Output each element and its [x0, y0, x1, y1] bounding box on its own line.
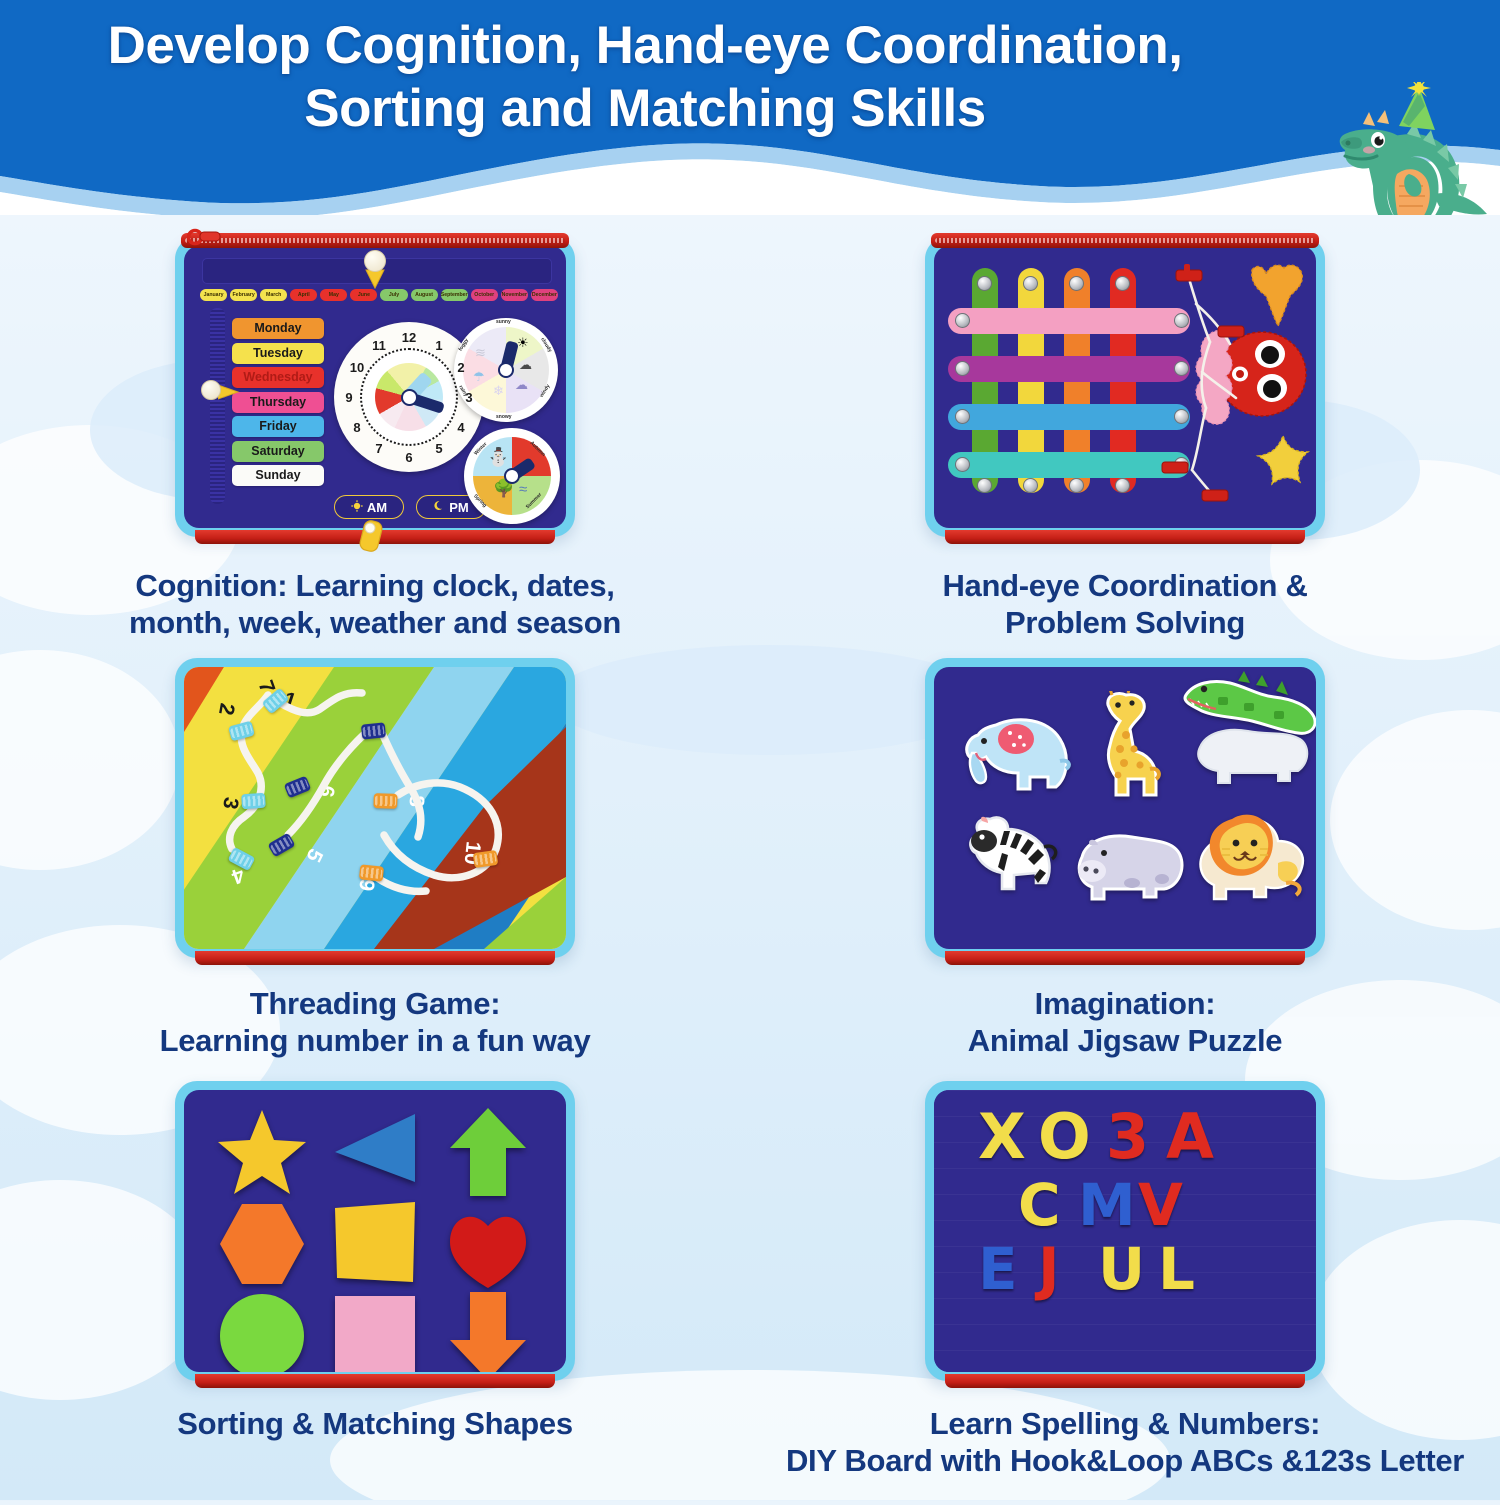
yellow-pointer-piece[interactable]	[357, 519, 385, 559]
month-slider-knob[interactable]	[364, 250, 386, 272]
clock-number-1: 1	[428, 334, 450, 356]
letters-board[interactable]: XO3ACMVEJUL	[925, 1081, 1325, 1381]
clock-number-11: 11	[368, 334, 390, 356]
clock-number-7: 7	[368, 438, 390, 460]
feature-grid: JanuaryFebruaryMarchAprilMayJuneJulyAugu…	[0, 225, 1500, 1500]
page-title: Develop Cognition, Hand-eye Coordination…	[0, 14, 1290, 140]
windy-weather-icon: ☁	[515, 377, 528, 393]
panel-lacing: Hand-eye Coordination & Problem Solving	[750, 225, 1500, 650]
caption-threading: Threading Game: Learning number in a fun…	[0, 985, 750, 1059]
zebra-puzzle-piece[interactable]	[952, 815, 1064, 901]
pm-label: PM	[449, 500, 469, 515]
title-line-2: Sorting and Matching Skills	[0, 77, 1290, 140]
weekday-list: MondayTuesdayWednesdayThursdayFridaySatu…	[232, 318, 324, 486]
caption-letters-line1: Learn Spelling & Numbers:	[745, 1405, 1500, 1442]
weekday-wednesday[interactable]: Wednesday	[232, 367, 324, 388]
shape-triangle[interactable]	[319, 1106, 432, 1198]
shape-arrow-down[interactable]	[431, 1290, 544, 1372]
thread-clip-8[interactable]	[373, 793, 397, 809]
clock-number-6: 6	[398, 446, 420, 468]
cloud-weather-icon: ☁	[519, 357, 532, 373]
zipper-bottom	[195, 1374, 555, 1388]
snow-weather-icon: ❄	[493, 383, 504, 399]
panel-cognition: JanuaryFebruaryMarchAprilMayJuneJulyAugu…	[0, 225, 750, 650]
letter-tile-3[interactable]: 3	[1106, 1106, 1149, 1168]
month-tag-february[interactable]: February	[230, 289, 257, 301]
caption-animals-line1: Imagination:	[750, 985, 1500, 1022]
title-line-1: Develop Cognition, Hand-eye Coordination…	[108, 16, 1183, 75]
animal-puzzle-board[interactable]	[925, 658, 1325, 958]
letter-tile-V[interactable]: V	[1138, 1176, 1183, 1234]
moon-icon	[433, 500, 445, 515]
month-tag-july[interactable]: July	[380, 289, 407, 301]
shape-hexagon[interactable]	[206, 1198, 319, 1290]
shape-arrow-up[interactable]	[431, 1106, 544, 1198]
shapes-grid	[184, 1090, 566, 1372]
threading-board[interactable]: 12345678910	[175, 658, 575, 958]
header-banner: Develop Cognition, Hand-eye Coordination…	[0, 0, 1500, 215]
weather-wheel[interactable]: ☀ ☁ ☁ ❄ ☂ ≋ sunny cloudy windy snowy	[454, 318, 558, 422]
cognition-board[interactable]: JanuaryFebruaryMarchAprilMayJuneJulyAugu…	[175, 237, 575, 537]
letter-tile-L[interactable]: L	[1158, 1240, 1195, 1298]
clock-number-10: 10	[346, 356, 368, 378]
lacing-board[interactable]	[925, 237, 1325, 537]
month-tag-june[interactable]: June	[350, 289, 377, 301]
letter-tile-M[interactable]: M	[1078, 1176, 1136, 1234]
snowman-icon: ⛄	[487, 447, 509, 468]
hippo-puzzle-piece[interactable]	[1070, 829, 1186, 901]
lacing-cords	[934, 246, 1316, 528]
shape-star[interactable]	[206, 1106, 319, 1198]
letter-tile-C[interactable]: C	[1018, 1176, 1061, 1234]
weekday-slider-knob[interactable]	[201, 380, 221, 400]
caption-cognition-line1: Cognition: Learning clock, dates,	[0, 567, 750, 604]
clock-inner-dial	[360, 348, 458, 446]
zipper-bottom	[945, 530, 1305, 544]
lion-puzzle-piece[interactable]	[1186, 809, 1308, 905]
water-icon: ≈	[519, 481, 527, 498]
am-button[interactable]: AM	[334, 495, 404, 519]
month-tag-august[interactable]: August	[411, 289, 438, 301]
giraffe-puzzle-piece[interactable]	[1084, 691, 1166, 803]
letter-tile-U[interactable]: U	[1098, 1240, 1145, 1298]
elephant-puzzle-piece[interactable]	[956, 711, 1074, 797]
shape-square-pink[interactable]	[319, 1290, 432, 1372]
month-tag-may[interactable]: May	[320, 289, 347, 301]
month-tag-december[interactable]: December	[531, 289, 558, 301]
shape-square[interactable]	[319, 1198, 432, 1290]
season-wheel-hub	[504, 468, 520, 484]
cognition-felt: JanuaryFebruaryMarchAprilMayJuneJulyAugu…	[184, 246, 566, 528]
threading-felt: 12345678910	[184, 667, 566, 949]
letter-strips: XO3ACMVEJUL	[934, 1090, 1316, 1372]
weekday-saturday[interactable]: Saturday	[232, 441, 324, 462]
caption-lacing-line2: Problem Solving	[750, 604, 1500, 641]
shape-heart[interactable]	[431, 1198, 544, 1290]
ampm-toggle-group[interactable]: AM PM	[334, 495, 486, 519]
clock-number-4: 4	[450, 416, 472, 438]
caption-shapes-line1: Sorting & Matching Shapes	[0, 1405, 750, 1442]
thread-clip-9[interactable]	[359, 864, 384, 881]
clock-number-5: 5	[428, 438, 450, 460]
letter-tile-J[interactable]: J	[1038, 1240, 1060, 1298]
letter-tile-E[interactable]: E	[978, 1240, 1018, 1298]
dinosaur-mascot-icon	[1315, 82, 1490, 215]
shape-circle[interactable]	[206, 1290, 319, 1372]
clock-number-9: 9	[338, 386, 360, 408]
weekday-slider-arrow-icon	[218, 384, 240, 400]
clock-hub	[401, 389, 418, 406]
caption-lacing-line1: Hand-eye Coordination &	[750, 567, 1500, 604]
caption-cognition-line2: month, week, weather and season	[0, 604, 750, 641]
season-wheel[interactable]: ⛄ 🌳 ≈ Winter Autumn Summer Spring	[464, 428, 560, 524]
caption-letters-line2: DIY Board with Hook&Loop ABCs &123s Lett…	[745, 1442, 1500, 1479]
fog-weather-icon: ≋	[475, 345, 486, 361]
thread-clip-7[interactable]	[361, 722, 386, 739]
panel-shapes: Sorting & Matching Shapes	[0, 1075, 750, 1500]
sun-icon	[351, 500, 363, 515]
sun-weather-icon: ☀	[517, 335, 529, 351]
rain-weather-icon: ☂	[473, 369, 485, 385]
zipper-top	[931, 233, 1319, 248]
zipper-bottom	[945, 1374, 1305, 1388]
letter-tile-O[interactable]: O	[1038, 1106, 1091, 1168]
panel-animals: Imagination: Animal Jigsaw Puzzle	[750, 650, 1500, 1075]
empty-puzzle-slot[interactable]	[1186, 725, 1312, 787]
am-label: AM	[367, 500, 387, 515]
weather-label-sunny: sunny	[496, 319, 511, 325]
month-tag-october[interactable]: October	[471, 289, 498, 301]
zipper-top	[181, 233, 569, 248]
animal-felt	[934, 667, 1316, 949]
month-tag-january[interactable]: January	[200, 289, 227, 301]
month-tag-april[interactable]: April	[290, 289, 317, 301]
caption-shapes: Sorting & Matching Shapes	[0, 1405, 750, 1442]
weekday-friday[interactable]: Friday	[232, 416, 324, 437]
caption-cognition: Cognition: Learning clock, dates, month,…	[0, 567, 750, 641]
weekday-monday[interactable]: Monday	[232, 318, 324, 339]
month-tag-september[interactable]: September	[441, 289, 468, 301]
caption-animals: Imagination: Animal Jigsaw Puzzle	[750, 985, 1500, 1059]
clock-number-8: 8	[346, 416, 368, 438]
weekday-slider-track[interactable]	[210, 308, 225, 504]
shapes-felt	[184, 1090, 566, 1372]
letters-felt: XO3ACMVEJUL	[934, 1090, 1316, 1372]
lacing-felt	[934, 246, 1316, 528]
weekday-thursday[interactable]: Thursday	[232, 392, 324, 413]
letter-tile-X[interactable]: X	[978, 1106, 1026, 1168]
letter-tile-A[interactable]: A	[1166, 1106, 1214, 1168]
caption-letters: Learn Spelling & Numbers: DIY Board with…	[745, 1405, 1500, 1479]
caption-animals-line2: Animal Jigsaw Puzzle	[750, 1022, 1500, 1059]
zipper-pull-icon[interactable]	[187, 228, 221, 248]
weekday-tuesday[interactable]: Tuesday	[232, 343, 324, 364]
thread-clip-3[interactable]	[241, 793, 266, 810]
caption-lacing: Hand-eye Coordination & Problem Solving	[750, 567, 1500, 641]
clock-number-12: 12	[398, 326, 420, 348]
zipper-bottom	[945, 951, 1305, 965]
month-tag-march[interactable]: March	[260, 289, 287, 301]
zipper-bottom	[195, 951, 555, 965]
panel-letters: XO3ACMVEJUL Learn Spelling & Numbers: DI…	[750, 1075, 1500, 1500]
weekday-sunday[interactable]: Sunday	[232, 465, 324, 486]
caption-threading-line2: Learning number in a fun way	[0, 1022, 750, 1059]
weather-label-snowy: snowy	[496, 414, 512, 420]
panel-threading: 12345678910 Threading Game: Learning num…	[0, 650, 750, 1075]
caption-threading-line1: Threading Game:	[0, 985, 750, 1022]
month-tag-november[interactable]: November	[501, 289, 528, 301]
weather-wheel-hub	[498, 362, 514, 378]
shapes-board[interactable]	[175, 1081, 575, 1381]
